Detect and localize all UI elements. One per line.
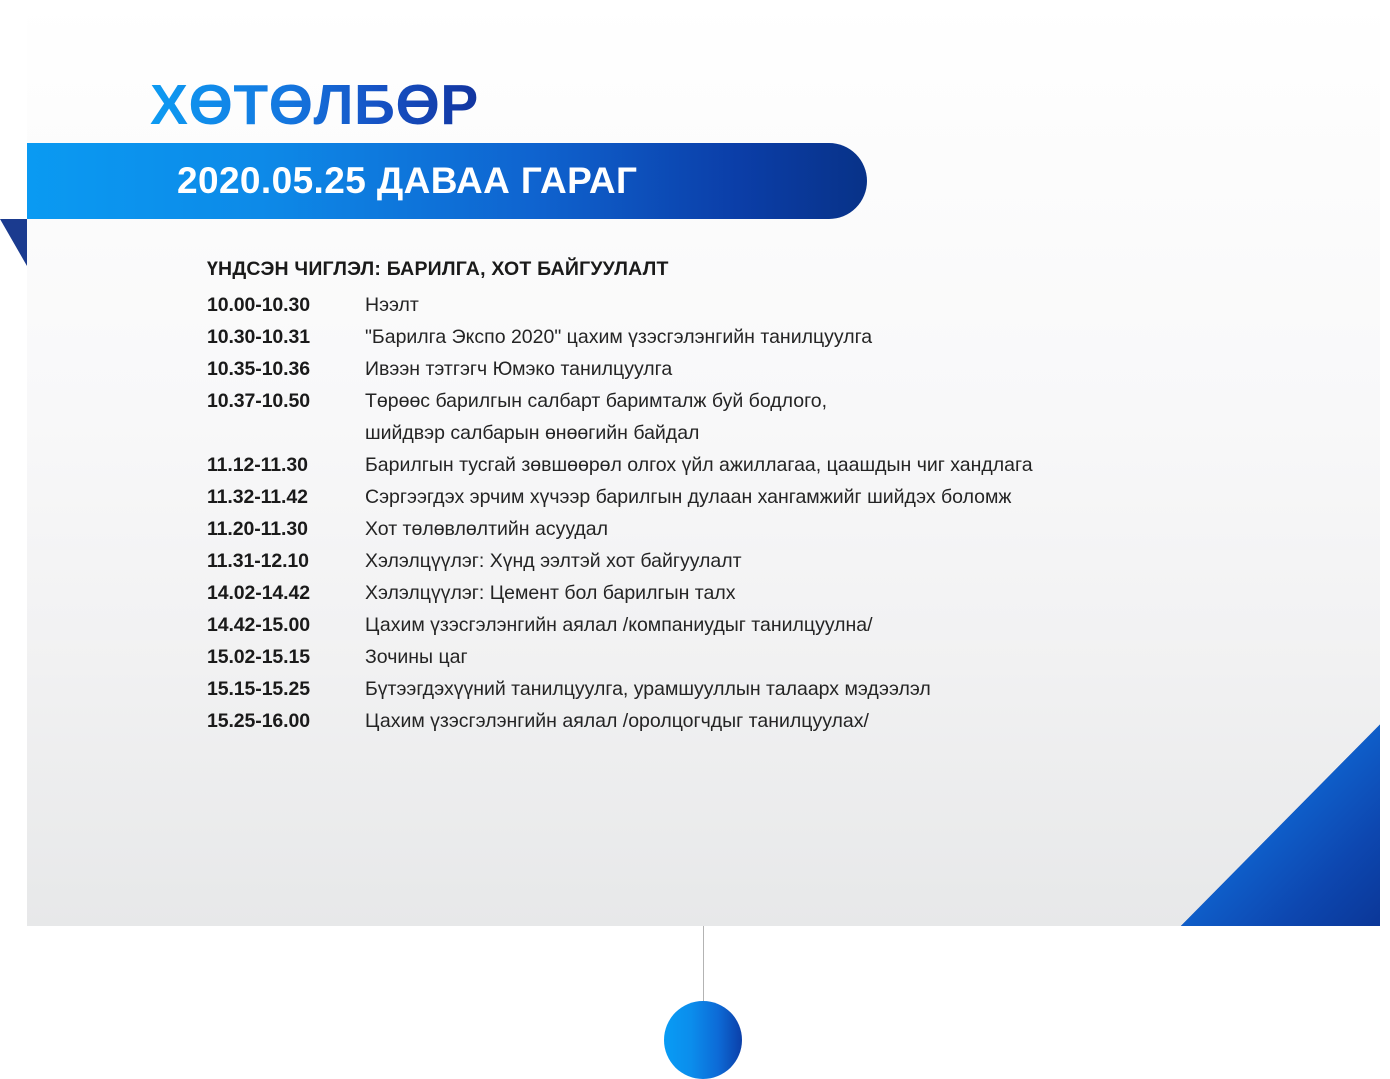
- agenda-row-time: 11.32-11.42: [207, 486, 365, 509]
- agenda-row-description: "Барилга Экспо 2020" цахим үзэсгэлэнгийн…: [365, 326, 1357, 349]
- drop-connector-line: [703, 926, 704, 1003]
- agenda-row-description-line1: Сэргээгдэх эрчим хүчээр барилгын дулаан …: [365, 486, 1011, 508]
- agenda-row: 14.42-15.00 Цахим үзэсгэлэнгийн аялал /к…: [207, 614, 1357, 637]
- agenda-row: 10.30-10.31 "Барилга Экспо 2020" цахим ү…: [207, 326, 1357, 349]
- agenda-row-description: Хот төлөвлөлтийн асуудал: [365, 518, 1357, 541]
- agenda-row-description-line1: Барилгын тусгай зөвшөөрөл олгох үйл ажил…: [365, 454, 1033, 476]
- agenda-list: ҮНДСЭН ЧИГЛЭЛ: БАРИЛГА, ХОТ БАЙГУУЛАЛТ 1…: [207, 258, 1357, 742]
- agenda-row-description-line2: шийдвэр салбарын өнөөгийн байдал: [365, 422, 1357, 445]
- agenda-row: 14.02-14.42 Хэлэлцүүлэг: Цемент бол бари…: [207, 582, 1357, 605]
- agenda-row-time: 10.37-10.50: [207, 390, 365, 413]
- agenda-row-description-line1: Хэлэлцүүлэг: Цемент бол барилгын талх: [365, 582, 735, 604]
- agenda-row: 11.20-11.30 Хот төлөвлөлтийн асуудал: [207, 518, 1357, 541]
- agenda-row-time: 15.02-15.15: [207, 646, 365, 669]
- agenda-row-description-line1: Бүтээгдэхүүний танилцуулга, урамшууллын …: [365, 678, 931, 700]
- slide-panel: ХӨТӨЛБӨР 2020.05.25 ДАВАА ГАРАГ ҮНДСЭН Ч…: [27, 0, 1380, 926]
- page-title: ХӨТӨЛБӨР: [150, 70, 479, 140]
- agenda-row-description: Хэлэлцүүлэг: Цемент бол барилгын талх: [365, 582, 1357, 605]
- page-title-container: ХӨТӨЛБӨР: [150, 70, 479, 140]
- agenda-row-description: Нээлт: [365, 294, 1357, 317]
- agenda-row-description: Бүтээгдэхүүний танилцуулга, урамшууллын …: [365, 678, 1357, 701]
- agenda-row-time: 10.00-10.30: [207, 294, 365, 317]
- agenda-row: 10.00-10.30 Нээлт: [207, 294, 1357, 317]
- agenda-row: 15.25-16.00 Цахим үзэсгэлэнгийн аялал /о…: [207, 710, 1357, 733]
- agenda-row-description-line1: "Барилга Экспо 2020" цахим үзэсгэлэнгийн…: [365, 326, 872, 348]
- date-ribbon: 2020.05.25 ДАВАА ГАРАГ: [27, 143, 867, 219]
- agenda-row-time: 15.15-15.25: [207, 678, 365, 701]
- agenda-row-description: Зочины цаг: [365, 646, 1357, 669]
- agenda-row-description-line1: Зочины цаг: [365, 646, 468, 668]
- agenda-row-time: 14.02-14.42: [207, 582, 365, 605]
- date-ribbon-label: 2020.05.25 ДАВАА ГАРАГ: [177, 143, 637, 219]
- agenda-row: 11.32-11.42 Сэргээгдэх эрчим хүчээр бари…: [207, 486, 1357, 509]
- agenda-row-description: Цахим үзэсгэлэнгийн аялал /компаниудыг т…: [365, 614, 1357, 637]
- agenda-row: 10.37-10.50 Төрөөс барилгын салбарт бари…: [207, 390, 1357, 445]
- agenda-row-description-line1: Хот төлөвлөлтийн асуудал: [365, 518, 608, 540]
- agenda-row: 11.31-12.10 Хэлэлцүүлэг: Хүнд ээлтэй хот…: [207, 550, 1357, 573]
- agenda-row-description: Хэлэлцүүлэг: Хүнд ээлтэй хот байгуулалт: [365, 550, 1357, 573]
- agenda-row-description-line1: Төрөөс барилгын салбарт баримталж буй бо…: [365, 390, 827, 412]
- agenda-row-time: 10.35-10.36: [207, 358, 365, 381]
- agenda-row-description-line1: Цахим үзэсгэлэнгийн аялал /компаниудыг т…: [365, 614, 873, 636]
- agenda-row-description: Ивээн тэтгэгч Юмэко танилцуулга: [365, 358, 1357, 381]
- agenda-row-description: Барилгын тусгай зөвшөөрөл олгох үйл ажил…: [365, 454, 1357, 477]
- agenda-row-description-line1: Нээлт: [365, 294, 419, 316]
- ribbon-fold-triangle: [0, 219, 27, 266]
- agenda-row-time: 11.31-12.10: [207, 550, 365, 573]
- drop-circle-decoration: [664, 1001, 742, 1079]
- agenda-heading: ҮНДСЭН ЧИГЛЭЛ: БАРИЛГА, ХОТ БАЙГУУЛАЛТ: [207, 258, 1357, 281]
- agenda-row-description-line1: Цахим үзэсгэлэнгийн аялал /оролцогчдыг т…: [365, 710, 869, 732]
- agenda-row: 10.35-10.36 Ивээн тэтгэгч Юмэко танилцуу…: [207, 358, 1357, 381]
- agenda-row: 11.12-11.30 Барилгын тусгай зөвшөөрөл ол…: [207, 454, 1357, 477]
- agenda-row-description-line1: Ивээн тэтгэгч Юмэко танилцуулга: [365, 358, 672, 380]
- agenda-row-description-line1: Хэлэлцүүлэг: Хүнд ээлтэй хот байгуулалт: [365, 550, 742, 572]
- agenda-row-time: 14.42-15.00: [207, 614, 365, 637]
- agenda-row: 15.15-15.25 Бүтээгдэхүүний танилцуулга, …: [207, 678, 1357, 701]
- agenda-row-description: Цахим үзэсгэлэнгийн аялал /оролцогчдыг т…: [365, 710, 1357, 733]
- agenda-row-time: 11.20-11.30: [207, 518, 365, 541]
- agenda-row: 15.02-15.15 Зочины цаг: [207, 646, 1357, 669]
- agenda-row-time: 11.12-11.30: [207, 454, 365, 477]
- agenda-row-time: 15.25-16.00: [207, 710, 365, 733]
- agenda-row-description: Сэргээгдэх эрчим хүчээр барилгын дулаан …: [365, 486, 1357, 509]
- agenda-row-time: 10.30-10.31: [207, 326, 365, 349]
- agenda-row-description: Төрөөс барилгын салбарт баримталж буй бо…: [365, 390, 1357, 445]
